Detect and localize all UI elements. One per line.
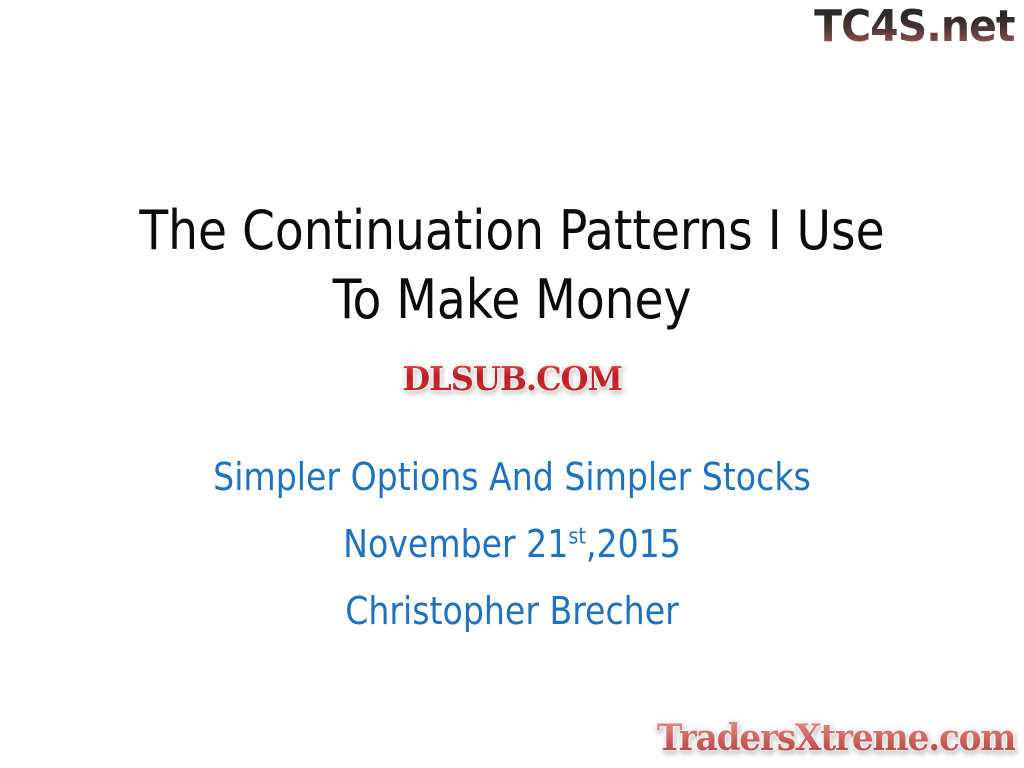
title-line-1: The Continuation Patterns I Use [15,196,1008,265]
dlsub-watermark: DLSUB.COM [0,360,1024,397]
date-ordinal-suffix: st [568,524,586,549]
subtitle-organization: Simpler Options And Simpler Stocks [15,444,1008,511]
title-line-2: To Make Money [15,265,1008,334]
subtitle-presenter: Christopher Brecher [15,578,1008,645]
date-year: ,2015 [586,522,681,566]
subtitle-date: November 21st,2015 [15,511,1008,578]
tradersxtreme-watermark-logo: TradersXtreme.com [657,717,1015,759]
slide-subtitle: Simpler Options And Simpler Stocks Novem… [0,444,1024,645]
tc4s-watermark-logo: TC4S.net [815,2,1015,52]
slide-title: The Continuation Patterns I Use To Make … [0,196,1024,334]
dlsub-watermark-logo: DLSUB.COM [402,360,622,397]
date-prefix: November 21 [343,522,568,566]
presentation-slide: TC4S.net The Continuation Patterns I Use… [0,0,1024,768]
